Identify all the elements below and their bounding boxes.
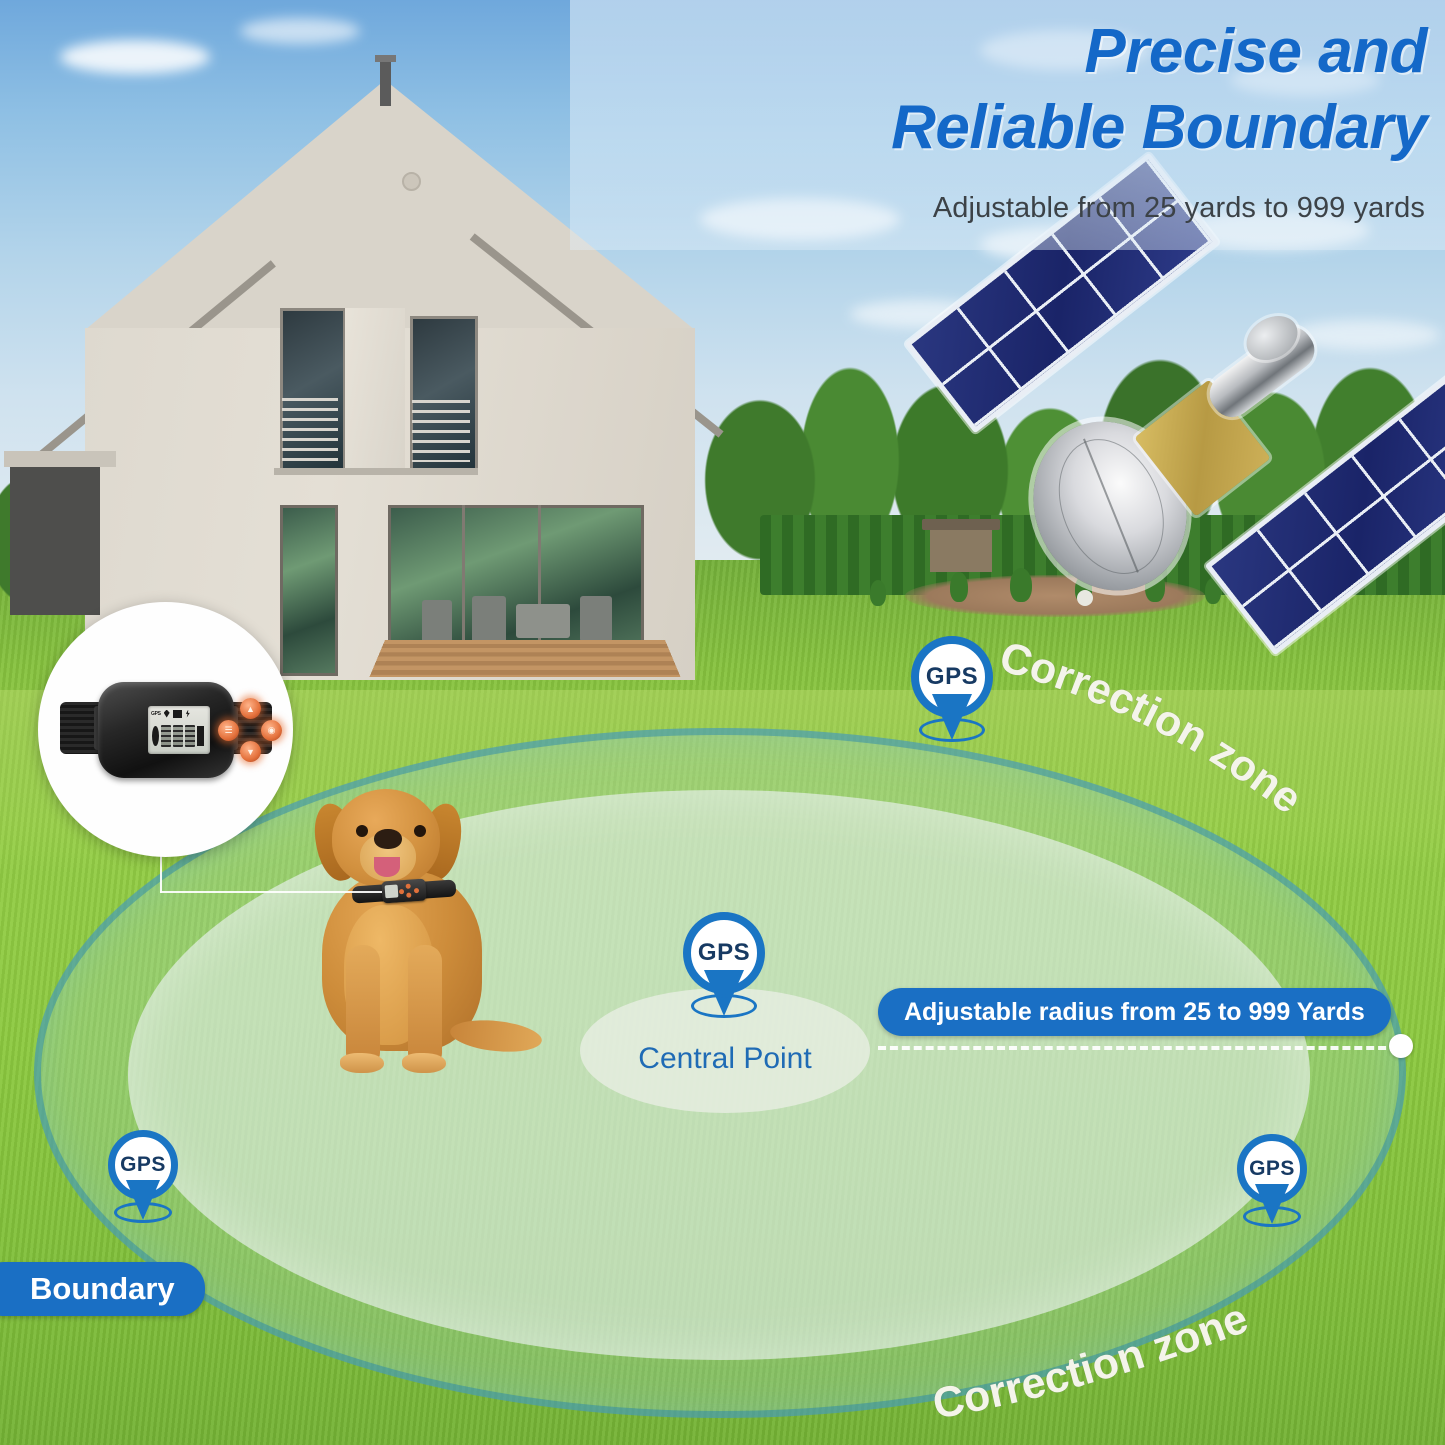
solar-panel-lower	[1205, 375, 1445, 656]
window-sill	[274, 468, 478, 475]
correction-zone-bottom-text: Correction zone	[929, 1294, 1254, 1428]
pin-base-ring	[1243, 1206, 1301, 1227]
dog-paw-left	[340, 1053, 384, 1073]
headline-line-2: Reliable Boundary	[587, 90, 1427, 166]
collar-device-button	[406, 884, 411, 889]
radius-label-pill: Adjustable radius from 25 to 999 Yards	[878, 988, 1391, 1036]
headline-line-1: Precise and	[587, 14, 1427, 90]
lcd-status-row: GPS	[151, 708, 207, 719]
collar-device-button	[414, 888, 419, 893]
radius-endpoint-dot	[1389, 1034, 1413, 1058]
dog-tongue	[374, 857, 400, 877]
page-title: Precise and Reliable Boundary	[587, 14, 1427, 165]
wall-vent	[402, 172, 421, 191]
dog-front-leg-left	[346, 945, 380, 1065]
lcd-digit-display	[152, 721, 206, 751]
glass-mullion	[462, 505, 465, 655]
boundary-label-text: Boundary	[30, 1271, 175, 1307]
facade-panel	[345, 308, 405, 468]
patio-chair	[472, 596, 506, 644]
dog-nose	[374, 829, 402, 849]
dog-eye-right	[414, 825, 426, 837]
dog-front-leg-right	[408, 945, 442, 1065]
dog-paw-right	[402, 1053, 446, 1073]
house-side-wing	[10, 465, 100, 615]
collar-device-callout: GPS ▲ ☰ ◉	[38, 602, 293, 857]
up-arrow-button[interactable]: ▲	[240, 698, 261, 719]
window-railing-right	[412, 400, 470, 462]
mode-button[interactable]: ☰	[218, 720, 239, 741]
correction-zone-top-text: Correction zone	[994, 633, 1310, 823]
collar-button-pad: ▲ ☰ ◉ ▼	[218, 698, 282, 762]
gps-pin-bottom-right[interactable]: GPS	[1237, 1134, 1307, 1228]
boundary-label-pill: Boundary	[0, 1262, 205, 1316]
callout-leader-horizontal	[160, 891, 382, 893]
battery-icon	[173, 710, 182, 718]
collar-housing: GPS ▲ ☰ ◉	[98, 682, 234, 778]
shrub	[870, 580, 886, 606]
chimney	[380, 62, 391, 106]
gps-collar-device: GPS ▲ ☰ ◉	[60, 682, 272, 778]
lcd-digit	[161, 725, 171, 747]
dog-golden-retriever	[300, 785, 555, 1085]
page-subtitle: Adjustable from 25 yards to 999 yards	[585, 192, 1425, 225]
lcd-digit	[173, 725, 183, 747]
dog-tail	[449, 1016, 544, 1055]
locate-button[interactable]: ◉	[261, 720, 282, 741]
patio-chair	[580, 596, 612, 642]
location-pin-icon	[164, 710, 170, 718]
gps-satellite	[955, 258, 1445, 618]
lcd-digit	[185, 725, 195, 747]
pin-base-ring	[114, 1202, 172, 1223]
clock-icon	[152, 726, 159, 746]
collar-device-button	[399, 889, 404, 894]
collar-device-button	[406, 893, 411, 898]
dog-eye-left	[356, 825, 368, 837]
radius-dashed-line	[878, 1046, 1398, 1050]
lower-door-left	[280, 505, 338, 676]
radius-label-text: Adjustable radius from 25 to 999 Yards	[904, 998, 1365, 1027]
gps-pin-bottom-left[interactable]: GPS	[108, 1130, 178, 1224]
patio-table	[516, 604, 570, 638]
dog-collar-device	[381, 878, 426, 903]
gps-pin-center[interactable]: GPS	[683, 912, 765, 1020]
signal-bars-icon	[197, 726, 204, 746]
product-feature-image: Precise and Reliable Boundary Adjustable…	[0, 0, 1445, 1445]
down-arrow-button[interactable]: ▼	[240, 741, 261, 762]
lightning-bolt-icon	[185, 710, 191, 718]
collar-device-screen	[385, 884, 399, 898]
patio-chair	[422, 600, 452, 644]
lcd-gps-label: GPS	[151, 711, 161, 717]
pin-base-ring	[691, 994, 757, 1018]
window-railing-left	[282, 398, 338, 462]
wooden-deck	[370, 640, 681, 677]
central-point-label: Central Point	[580, 1042, 870, 1076]
correction-zone-bottom-label: Correction zone	[910, 1290, 1350, 1440]
correction-zone-top-label: Correction zone	[960, 625, 1430, 895]
collar-lcd-screen: GPS	[148, 706, 210, 754]
